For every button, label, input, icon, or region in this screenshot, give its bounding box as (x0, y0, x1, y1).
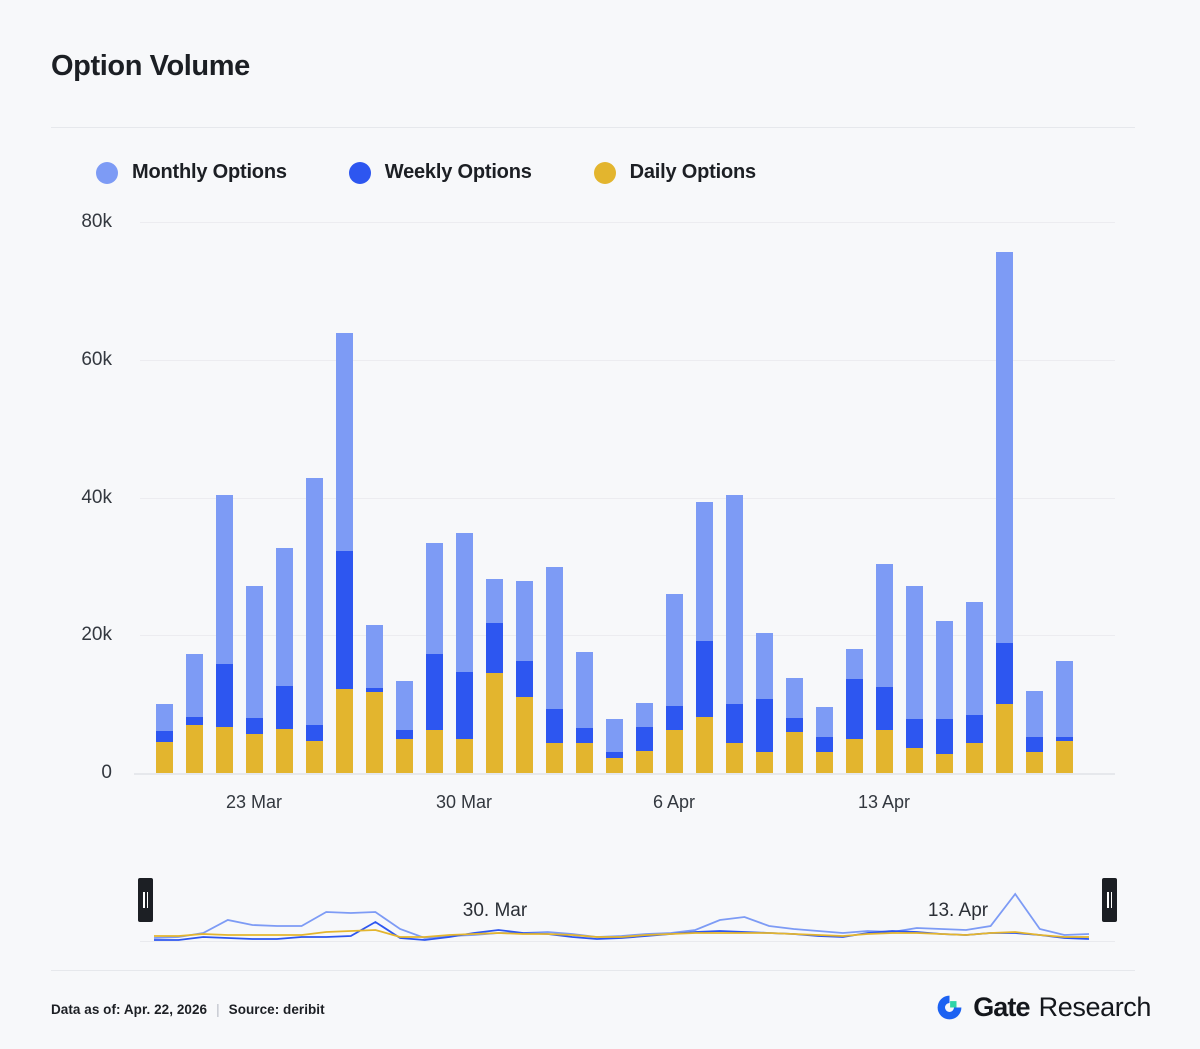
bar-segment (726, 704, 743, 743)
bar-segment (996, 252, 1013, 643)
bar-segment (246, 586, 263, 718)
footer-separator: | (216, 1002, 220, 1017)
bar-segment (156, 742, 173, 773)
bar-column[interactable] (516, 581, 533, 773)
bar-segment (306, 741, 323, 773)
bar-segment (576, 728, 593, 743)
bar-segment (906, 748, 923, 773)
bar-column[interactable] (786, 678, 803, 773)
x-axis-tick-label: 23 Mar (226, 792, 282, 813)
bar-segment (816, 707, 833, 737)
bar-segment (396, 681, 413, 731)
bar-segment (936, 754, 953, 773)
bar-segment (906, 586, 923, 719)
bar-segment (786, 732, 803, 773)
bar-segment (186, 654, 203, 717)
bar-segment (186, 717, 203, 725)
legend-item-weekly[interactable]: Weekly Options (349, 161, 532, 184)
bar-column[interactable] (216, 495, 233, 773)
bar-segment (516, 581, 533, 661)
bar-segment (726, 743, 743, 773)
bar-segment (816, 752, 833, 773)
source-label: Source: deribit (229, 1002, 325, 1017)
x-axis-tick-label: 6 Apr (653, 792, 695, 813)
y-axis-tick-label: 60k (30, 349, 112, 371)
bar-column[interactable] (486, 579, 503, 773)
bar-segment (456, 533, 473, 673)
bar-column[interactable] (156, 704, 173, 773)
bar-segment (246, 718, 263, 734)
bar-column[interactable] (936, 621, 953, 773)
divider-top (51, 127, 1135, 128)
navigator-date-label: 30. Mar (463, 900, 527, 922)
bar-segment (936, 719, 953, 755)
bar-segment (156, 704, 173, 731)
bar-segment (276, 548, 293, 686)
chart-page: Option Volume Monthly OptionsWeekly Opti… (0, 0, 1200, 1049)
bar-segment (426, 543, 443, 654)
legend-swatch-daily-icon (594, 162, 616, 184)
bar-segment (846, 739, 863, 773)
range-handle-left[interactable] (138, 878, 153, 922)
bar-segment (456, 672, 473, 738)
bar-segment (216, 727, 233, 773)
bar-segment (666, 594, 683, 706)
y-axis-tick-label: 20k (30, 624, 112, 646)
bar-segment (1056, 741, 1073, 773)
x-axis-tick-label: 30 Mar (436, 792, 492, 813)
plot-area (140, 222, 1115, 774)
bar-column[interactable] (396, 681, 413, 773)
bar-segment (426, 730, 443, 773)
bar-segment (516, 661, 533, 698)
bar-segment (696, 717, 713, 773)
bar-column[interactable] (1026, 691, 1043, 773)
x-axis-line (134, 773, 1115, 775)
legend-label-weekly: Weekly Options (385, 161, 532, 184)
bar-segment (606, 719, 623, 751)
bar-segment (756, 633, 773, 698)
bar-segment (216, 664, 233, 727)
brand-name: Gate (973, 992, 1029, 1023)
bar-column[interactable] (876, 564, 893, 773)
bar-segment (756, 699, 773, 753)
bar-segment (366, 688, 383, 693)
bar-segment (276, 686, 293, 729)
bar-column[interactable] (546, 567, 563, 773)
bar-segment (726, 495, 743, 704)
bar-column[interactable] (996, 252, 1013, 773)
bar-segment (1056, 661, 1073, 737)
brand-logo: Gate Research (935, 992, 1151, 1023)
bar-segment (366, 625, 383, 688)
bar-segment (516, 697, 533, 773)
bar-column[interactable] (246, 586, 263, 773)
bar-column[interactable] (306, 478, 323, 773)
legend-item-monthly[interactable]: Monthly Options (96, 161, 287, 184)
bar-segment (816, 737, 833, 752)
bar-column[interactable] (726, 495, 743, 773)
legend-swatch-monthly-icon (96, 162, 118, 184)
bar-segment (636, 751, 653, 773)
bar-column[interactable] (906, 586, 923, 773)
bar-segment (846, 679, 863, 739)
bar-segment (846, 649, 863, 679)
bar-segment (1026, 752, 1043, 773)
bar-segment (786, 718, 803, 732)
bar-segment (426, 654, 443, 730)
bar-column[interactable] (666, 594, 683, 773)
bar-segment (756, 752, 773, 773)
bar-segment (546, 743, 563, 773)
bar-segment (966, 743, 983, 773)
chart-legend: Monthly OptionsWeekly OptionsDaily Optio… (96, 161, 818, 184)
bar-segment (486, 623, 503, 673)
bar-segment (666, 730, 683, 773)
range-handle-right[interactable] (1102, 878, 1117, 922)
y-axis-tick-label: 0 (30, 762, 112, 784)
bar-segment (696, 641, 713, 717)
bar-segment (186, 725, 203, 773)
bar-column[interactable] (576, 652, 593, 773)
data-as-of-label: Data as of: Apr. 22, 2026 (51, 1002, 207, 1017)
y-axis-tick-label: 80k (30, 211, 112, 233)
bar-column[interactable] (336, 333, 353, 773)
gate-logo-icon (935, 993, 964, 1022)
bar-column[interactable] (966, 602, 983, 773)
bar-segment (276, 729, 293, 773)
bar-segment (336, 333, 353, 551)
bar-segment (606, 752, 623, 758)
bar-column[interactable] (816, 707, 833, 773)
bar-segment (576, 743, 593, 773)
bar-column[interactable] (756, 633, 773, 773)
bar-segment (396, 739, 413, 773)
bar-segment (246, 734, 263, 773)
bar-segment (156, 731, 173, 742)
bar-segment (696, 502, 713, 641)
legend-item-daily[interactable]: Daily Options (594, 161, 756, 184)
bar-column[interactable] (426, 543, 443, 773)
bar-segment (1026, 737, 1043, 753)
bar-segment (1056, 737, 1073, 742)
bar-column[interactable] (456, 533, 473, 773)
bar-segment (876, 564, 893, 687)
bar-column[interactable] (696, 502, 713, 773)
brand-suffix: Research (1039, 992, 1151, 1023)
bar-segment (606, 758, 623, 773)
bar-segment (666, 706, 683, 731)
bar-column[interactable] (606, 719, 623, 773)
bar-series (140, 222, 1115, 774)
footer-meta: Data as of: Apr. 22, 2026 | Source: deri… (51, 1002, 325, 1017)
bar-segment (906, 719, 923, 749)
divider-bottom (51, 970, 1135, 971)
bar-segment (786, 678, 803, 718)
bar-segment (306, 478, 323, 725)
bar-segment (1026, 691, 1043, 736)
bar-column[interactable] (636, 703, 653, 773)
bar-segment (366, 692, 383, 773)
navigator-date-label: 13. Apr (928, 900, 988, 922)
bar-segment (336, 689, 353, 773)
bar-segment (396, 730, 413, 739)
bar-segment (966, 715, 983, 743)
bar-column[interactable] (366, 625, 383, 773)
bar-segment (876, 730, 893, 773)
x-axis-tick-label: 13 Apr (858, 792, 910, 813)
bar-segment (456, 739, 473, 773)
bar-segment (486, 673, 503, 773)
bar-segment (546, 709, 563, 743)
legend-swatch-weekly-icon (349, 162, 371, 184)
bar-segment (216, 495, 233, 664)
legend-label-monthly: Monthly Options (132, 161, 287, 184)
bar-segment (936, 621, 953, 719)
bar-segment (996, 704, 1013, 773)
bar-segment (996, 643, 1013, 704)
page-title: Option Volume (51, 50, 250, 83)
bar-segment (966, 602, 983, 715)
bar-segment (336, 551, 353, 689)
bar-column[interactable] (1056, 661, 1073, 773)
bar-segment (576, 652, 593, 728)
bar-segment (546, 567, 563, 709)
bar-segment (486, 579, 503, 623)
bar-segment (876, 687, 893, 730)
bar-segment (636, 727, 653, 751)
legend-label-daily: Daily Options (630, 161, 756, 184)
range-navigator[interactable]: 30. Mar13. Apr (140, 870, 1115, 950)
bar-column[interactable] (276, 548, 293, 773)
bar-column[interactable] (186, 654, 203, 773)
bar-segment (636, 703, 653, 726)
bar-segment (306, 725, 323, 741)
bar-column[interactable] (846, 649, 863, 773)
y-axis-tick-label: 40k (30, 487, 112, 509)
